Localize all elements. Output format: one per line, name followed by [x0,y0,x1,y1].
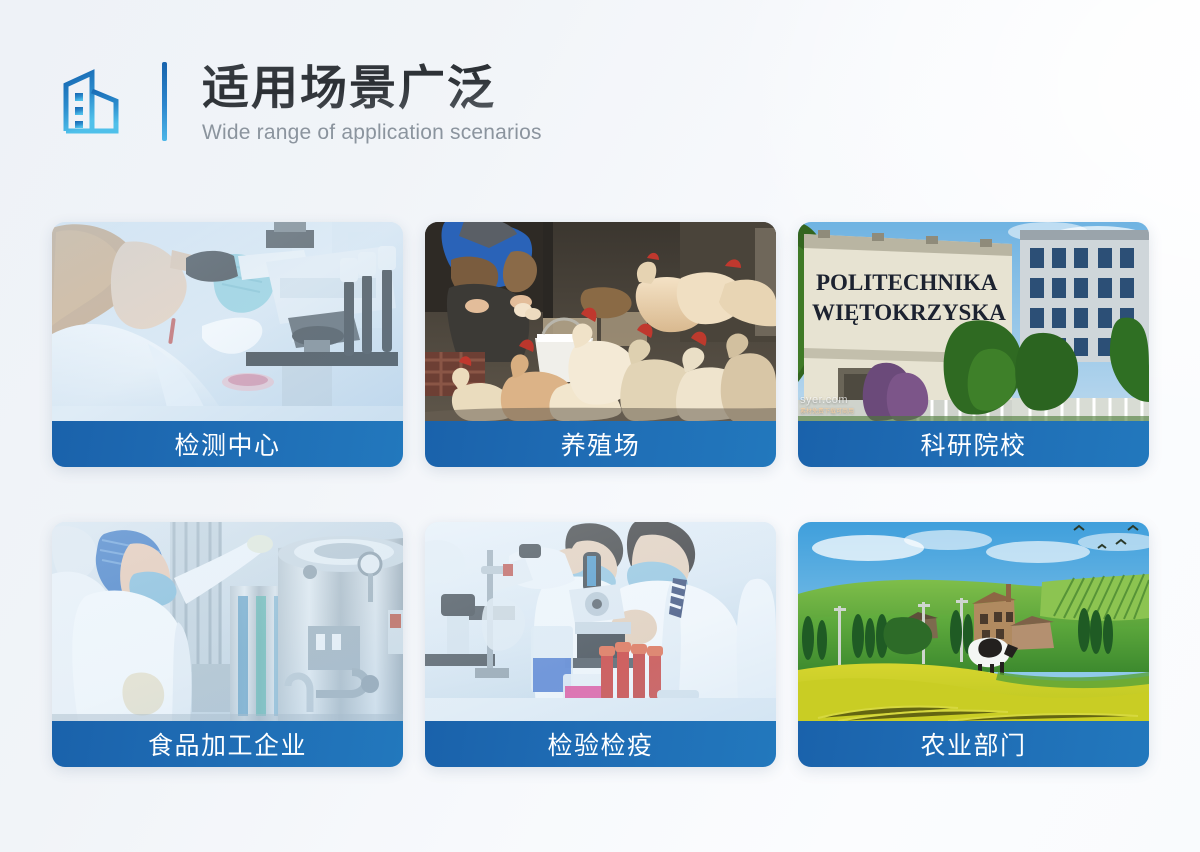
application-scenarios-section: 适用场景广泛 Wide range of application scenari… [0,0,1200,852]
section-header: 适用场景广泛 Wide range of application scenari… [62,57,542,146]
inspection-laboratory-photo [425,522,776,721]
scenario-card-inspection-quarantine[interactable]: 检验检疫 [425,522,776,767]
food-processing-plant-photo [52,522,403,721]
scenario-card-label: 科研院校 [798,421,1149,467]
scientist-at-microscope-photo [52,222,403,421]
scenario-card-poultry-farm[interactable]: 养殖场 [425,222,776,467]
university-building-photo: POLITECHNIKA WIĘTOKRZYSKA [798,222,1149,421]
page-title: 适用场景广泛 [202,59,542,117]
poultry-farm-photo [425,222,776,421]
farmland-landscape-photo [798,522,1149,721]
page-subtitle: Wide range of application scenarios [202,120,542,146]
scenario-card-grid: 检测中心 [52,222,1148,767]
scenario-card-label: 检测中心 [52,421,403,467]
scenario-card-label: 检验检疫 [425,721,776,767]
scenario-card-food-processing[interactable]: 食品加工企业 [52,522,403,767]
scenario-card-label: 食品加工企业 [52,721,403,767]
building-icon [62,69,124,135]
header-text-block: 适用场景广泛 Wide range of application scenari… [202,57,542,146]
scenario-card-agriculture-department[interactable]: 农业部门 [798,522,1149,767]
header-divider [162,62,167,141]
scenario-card-research-institute[interactable]: POLITECHNIKA WIĘTOKRZYSKA [798,222,1149,467]
scenario-card-label: 农业部门 [798,721,1149,767]
building-sign-line-1: POLITECHNIKA [816,270,998,295]
scenario-card-label: 养殖场 [425,421,776,467]
scenario-card-testing-center[interactable]: 检测中心 [52,222,403,467]
